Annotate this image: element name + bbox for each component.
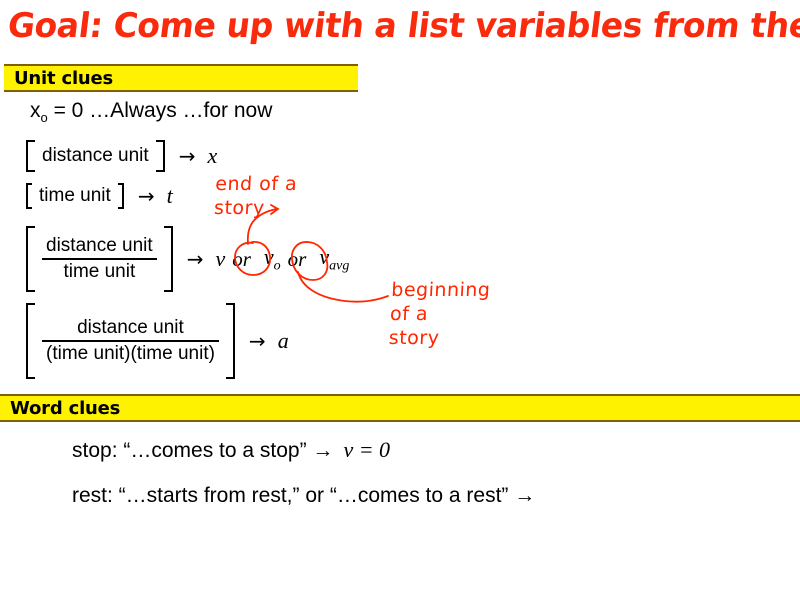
section-header-unit-clues: Unit clues xyxy=(4,64,358,92)
joiner-or-1: or xyxy=(225,247,258,272)
maps-to-arrow-icon: → xyxy=(165,144,202,168)
result-variable-v-sub-o-subscript: o xyxy=(274,258,281,273)
result-variable-v: v xyxy=(209,246,225,272)
section-header-word-clues: Word clues xyxy=(0,394,800,422)
bracket-content-velocity-fraction: distance unit time unit xyxy=(35,235,164,283)
result-variable-v-sub-o-symbol: v xyxy=(264,244,274,269)
word-clue-rest-result xyxy=(535,482,545,507)
unit-row-time-unit: time unit → t xyxy=(26,184,173,208)
bracket-content-time-unit: time unit xyxy=(32,185,118,207)
fraction-denominator: (time unit)(time unit) xyxy=(42,340,219,365)
result-variable-x: x xyxy=(201,143,217,169)
fraction-numerator: distance unit xyxy=(42,317,219,340)
unit-row-acceleration-unit: distance unit (time unit)(time unit) → a xyxy=(26,303,289,379)
annotation-end-of-a-story: end of a story xyxy=(213,172,297,220)
result-variable-v-avg-subscript: avg xyxy=(329,258,349,273)
word-clue-stop-text: stop: “…comes to a stop” → xyxy=(72,439,333,462)
result-variable-v-avg: vavg xyxy=(313,244,349,274)
initial-condition-variable: x xyxy=(30,99,41,122)
bracket-right-icon xyxy=(156,140,165,172)
fraction-denominator: time unit xyxy=(42,258,157,283)
section-header-unit-clues-label: Unit clues xyxy=(4,68,113,89)
bracket-left-icon xyxy=(26,226,35,292)
slide-canvas: Goal: Come up with a list variables from… xyxy=(0,0,800,600)
bracket-content-acceleration-fraction: distance unit (time unit)(time unit) xyxy=(35,317,226,365)
result-variable-v-sub-o: vo xyxy=(258,244,281,274)
bracket-left-icon xyxy=(26,303,35,379)
joiner-or-2: or xyxy=(281,247,314,272)
word-clue-stop: stop: “…comes to a stop” →v = 0 xyxy=(72,437,390,463)
unit-row-velocity-unit: distance unit time unit → v or vo or vav… xyxy=(26,226,349,292)
bracket-right-icon xyxy=(226,303,235,379)
maps-to-arrow-icon: → xyxy=(173,247,210,271)
bracket-content-distance-unit: distance unit xyxy=(35,145,156,167)
bracket-right-icon xyxy=(164,226,173,292)
word-clue-rest: rest: “…starts from rest,” or “…comes to… xyxy=(72,482,545,508)
page-title: Goal: Come up with a list variables from… xyxy=(5,4,777,48)
initial-condition-value: = 0 …Always …for now xyxy=(48,99,273,122)
initial-condition-line: xo = 0 …Always …for now xyxy=(30,99,272,125)
section-header-word-clues-label: Word clues xyxy=(0,398,120,419)
result-variable-v-avg-symbol: v xyxy=(319,244,329,269)
maps-to-arrow-icon: → xyxy=(235,329,272,353)
fraction-numerator: distance unit xyxy=(42,235,157,258)
result-variable-t: t xyxy=(161,183,173,209)
unit-row-distance-unit: distance unit → x xyxy=(26,140,217,172)
fraction: distance unit (time unit)(time unit) xyxy=(42,317,219,365)
bracket-left-icon xyxy=(26,140,35,172)
maps-to-arrow-icon: → xyxy=(124,184,161,208)
word-clue-rest-text: rest: “…starts from rest,” or “…comes to… xyxy=(72,484,535,507)
fraction: distance unit time unit xyxy=(42,235,157,283)
word-clue-stop-result: v = 0 xyxy=(333,437,390,462)
result-variable-a: a xyxy=(272,328,289,354)
annotation-beginning-of-a-story: beginning of a story xyxy=(388,278,491,350)
initial-condition-subscript: o xyxy=(41,110,48,125)
